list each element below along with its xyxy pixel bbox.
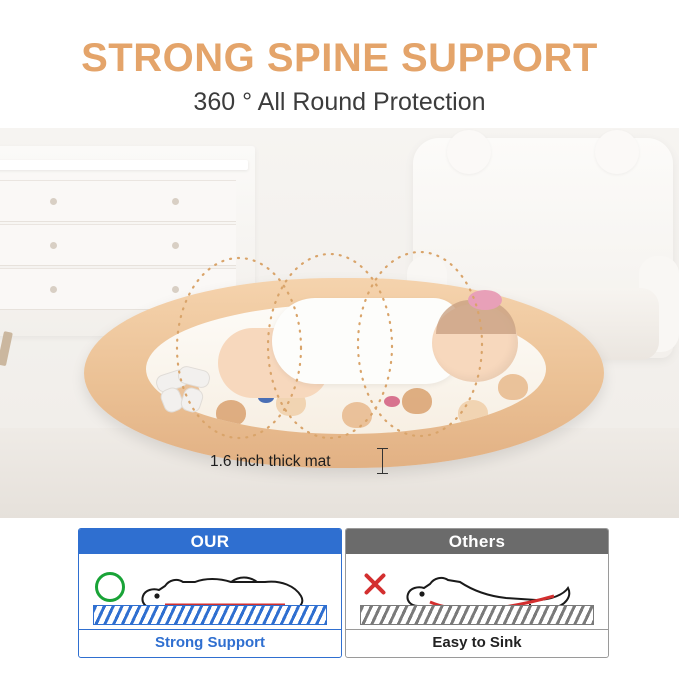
chair-ear [447,130,491,174]
firm-support-hatching [93,605,327,625]
animal-print [458,400,488,426]
x-cross-icon [362,571,388,597]
thickness-measure-bar [382,448,383,474]
animal-print [402,388,432,414]
page-subtitle: 360 ° All Round Protection [0,88,679,117]
panel-title-our: OUR [79,529,341,554]
bow-print [384,396,400,407]
soft-sink-hatching [360,605,594,625]
drawer-knob [50,286,57,293]
comparison-panel-others: Others Easy to Sink [345,528,609,658]
panel-title-others: Others [346,529,608,554]
drawer-knob [172,242,179,249]
panel-footer-our: Strong Support [79,629,341,656]
panel-footer-others: Easy to Sink [346,629,608,656]
chair-ear [595,130,639,174]
animal-print [498,374,528,400]
comparison-section: OUR Strong Support Others [0,528,679,673]
product-infographic: STRONG SPINE SUPPORT 360 ° All Round Pro… [0,0,679,679]
animal-print [342,402,372,428]
animal-print [216,400,246,426]
panel-illustration-our [79,554,341,629]
drawer-knob [50,198,57,205]
dresser-drawer [0,180,236,222]
thickness-caption: 1.6 inch thick mat [210,453,331,471]
drawer-knob [172,198,179,205]
page-title: STRONG SPINE SUPPORT [0,36,679,81]
circle-check-icon [95,572,125,602]
dresser-top [0,160,248,170]
product-photo: 1.6 inch thick mat [0,128,679,518]
baby-hair-bow [468,290,502,310]
dresser-drawer [0,224,236,266]
ribbon-tie [156,366,212,412]
panel-illustration-others [346,554,608,629]
drawer-knob [50,242,57,249]
comparison-panel-our: OUR Strong Support [78,528,342,658]
